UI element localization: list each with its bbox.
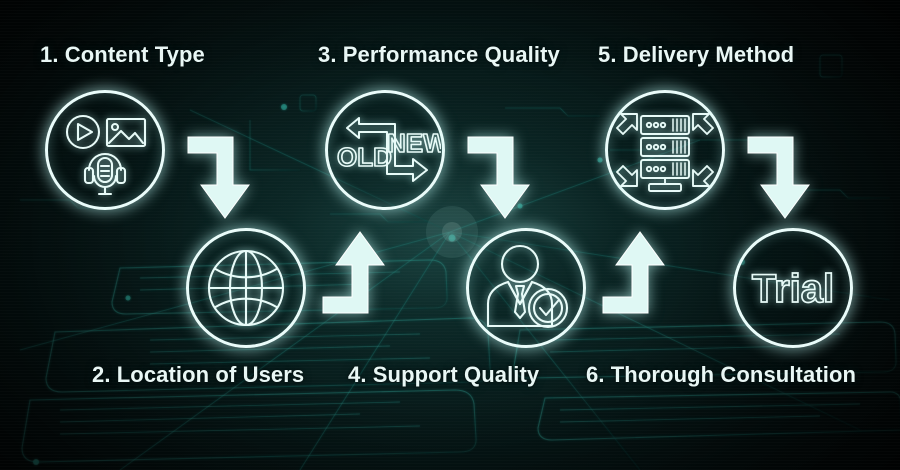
step-1-label: 1. Content Type — [40, 42, 205, 68]
step-2-circle[interactable] — [186, 228, 306, 348]
step-5-circle[interactable] — [605, 90, 725, 210]
step-1-circle[interactable] — [45, 90, 165, 210]
step-2-label: 2. Location of Users — [92, 362, 304, 388]
step-3-circle[interactable] — [325, 90, 445, 210]
step-4-label: 4. Support Quality — [348, 362, 539, 388]
step-6-circle[interactable] — [733, 228, 853, 348]
step-6-label: 6. Thorough Consultation — [586, 362, 856, 388]
infographic-canvas: 1. Content Type — [0, 0, 900, 470]
step-5-label: 5. Delivery Method — [598, 42, 794, 68]
step-4-circle[interactable] — [466, 228, 586, 348]
step-3-label: 3. Performance Quality — [318, 42, 560, 68]
